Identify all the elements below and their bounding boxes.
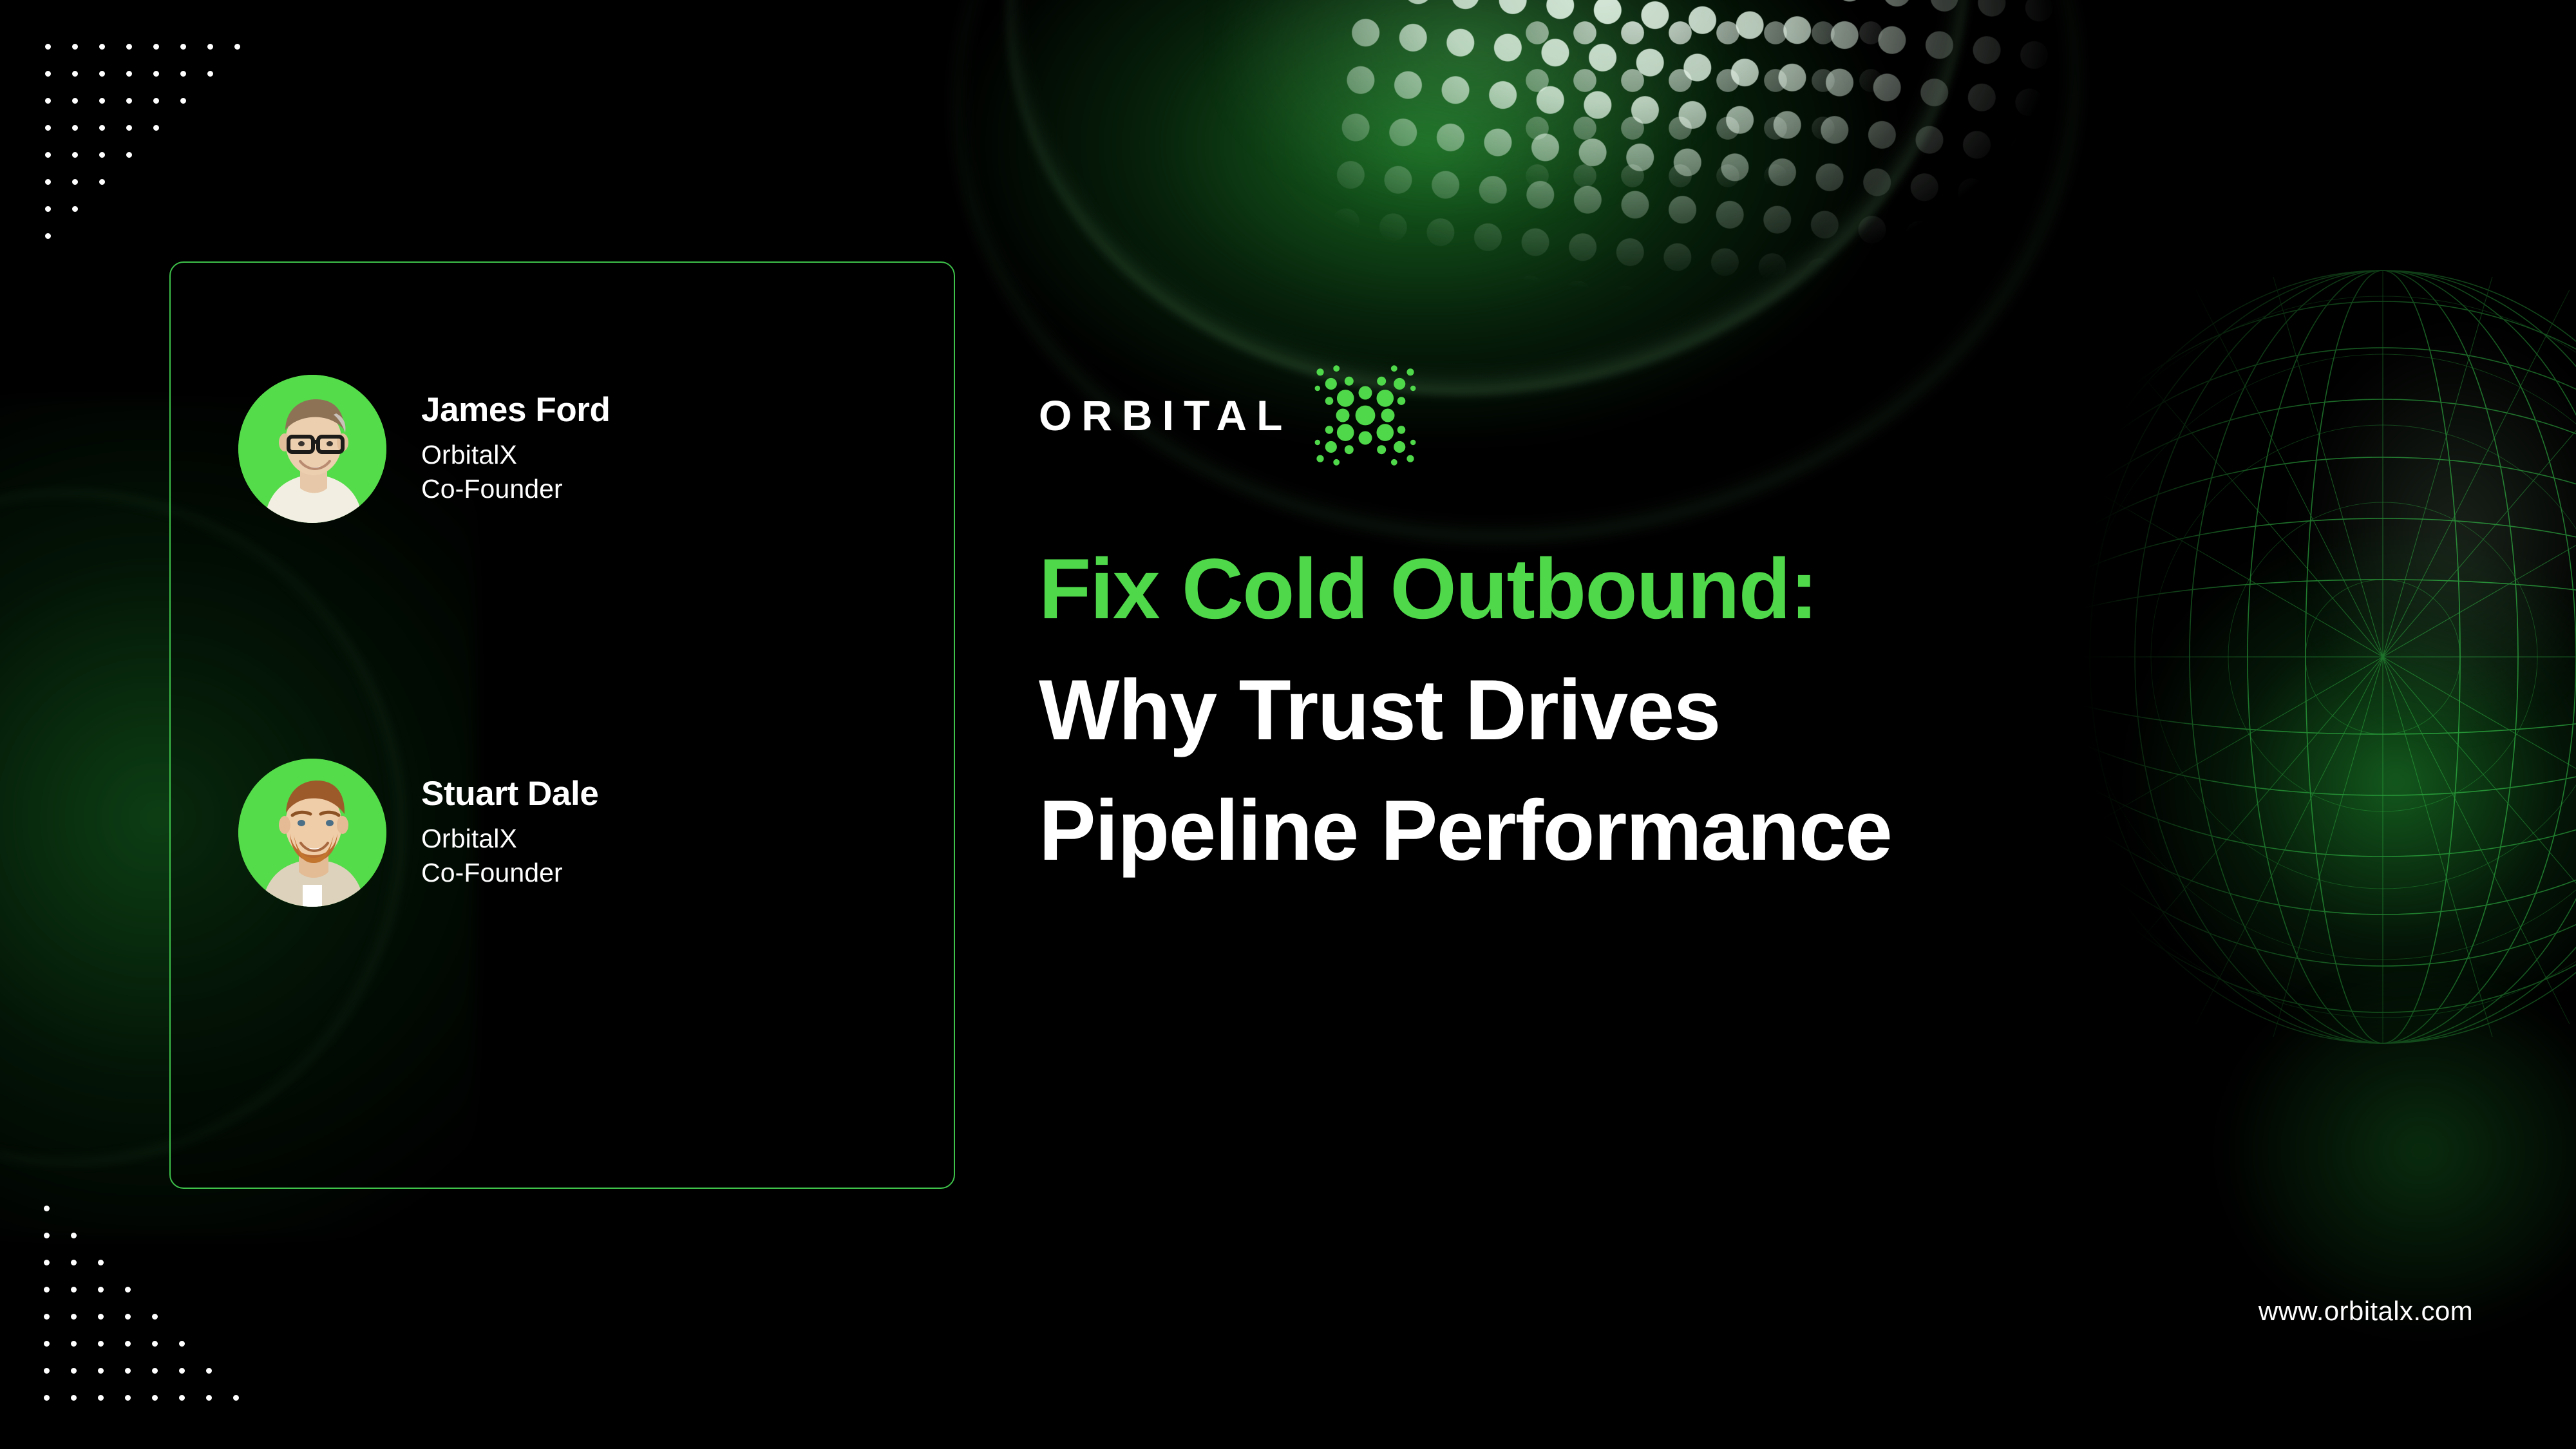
decorative-dot [45,206,51,212]
decorative-dot [45,233,51,239]
decorative-dot [99,71,105,77]
decorative-dot [44,1206,50,1211]
decorative-dot [152,1395,158,1401]
decorative-dot [45,125,51,131]
decorative-dot [45,98,51,104]
decorative-dot [152,1314,158,1320]
decorative-dot [207,44,213,50]
decorative-dot [71,1287,77,1293]
decorative-dot [179,1395,185,1401]
decorative-dot [152,1368,158,1374]
speaker-card: James Ford OrbitalX Co-Founder [169,261,955,1189]
decorative-dot [153,71,159,77]
decorative-dot [206,1368,212,1374]
decorative-dot [45,44,51,50]
speaker-name: James Ford [421,392,611,428]
decorative-dot [71,1314,77,1320]
headline-line-1: Fix Cold Outbound: [1039,529,2488,650]
decorative-dot [45,71,51,77]
decorative-dot-grid-bottom-left [44,1206,263,1425]
decorative-dot [98,1395,104,1401]
slide-canvas: James Ford OrbitalX Co-Founder [0,0,2576,1449]
decorative-dot [72,206,78,212]
decorative-dot [125,1341,131,1347]
decorative-dot [126,44,132,50]
decorative-dot [179,1368,185,1374]
decorative-dot [99,152,105,158]
headline-line-2: Why Trust Drives [1039,650,2488,772]
speaker-role: Co-Founder [421,472,611,506]
headline-line-3: Pipeline Performance [1039,771,2488,892]
decorative-dot [72,125,78,131]
decorative-dot [152,1341,158,1347]
top-right-green-glow [966,0,2061,438]
decorative-dot [44,1395,50,1401]
decorative-dot [71,1368,77,1374]
decorative-dot [71,1395,77,1401]
decorative-dot [72,71,78,77]
speaker-row: James Ford OrbitalX Co-Founder [238,375,611,523]
decorative-dot [44,1368,50,1374]
brand-lockup: ORBITAL [1039,377,2488,453]
decorative-dot [71,1233,77,1238]
decorative-dot [72,179,78,185]
content-column: ORBITAL [1039,377,2488,892]
decorative-dot [44,1314,50,1320]
decorative-dot [126,71,132,77]
decorative-dot [98,1287,104,1293]
decorative-dot [98,1314,104,1320]
decorative-dot [98,1368,104,1374]
decorative-dot [234,44,240,50]
speaker-row: Stuart Dale OrbitalX Co-Founder [238,759,598,907]
decorative-dot [99,44,105,50]
orbitalx-dot-x-icon [1311,361,1419,469]
decorative-dot [126,152,132,158]
decorative-dot [98,1341,104,1347]
decorative-dot [125,1368,131,1374]
speaker-meta: James Ford OrbitalX Co-Founder [421,392,611,506]
decorative-dot [153,98,159,104]
bottom-right-green-glow [2190,966,2576,1449]
decorative-dot [206,1395,212,1401]
decorative-dot [126,98,132,104]
speaker-org: OrbitalX [421,438,611,471]
speaker-role: Co-Founder [421,856,598,889]
decorative-dot [98,1260,104,1265]
speaker-avatar-james-ford [238,375,386,523]
decorative-dot [45,179,51,185]
decorative-dot [45,152,51,158]
decorative-dot [72,98,78,104]
speaker-org: OrbitalX [421,822,598,855]
speaker-name: Stuart Dale [421,776,598,812]
decorative-dot [99,125,105,131]
speaker-meta: Stuart Dale OrbitalX Co-Founder [421,776,598,890]
page-title: Fix Cold Outbound: Why Trust Drives Pipe… [1039,529,2488,892]
decorative-dot [99,179,105,185]
decorative-dot [71,1260,77,1265]
decorative-dot [233,1395,239,1401]
top-right-green-glow-soft [1224,0,1932,283]
decorative-dot [125,1287,131,1293]
decorative-dot [126,125,132,131]
decorative-dot [207,71,213,77]
decorative-dot [125,1395,131,1401]
decorative-dot [44,1287,50,1293]
decorative-dot-grid-top-left [45,44,264,263]
decorative-dot [72,44,78,50]
decorative-dot [72,152,78,158]
decorative-dot [125,1314,131,1320]
halftone-dot-field-secondary-icon [1513,0,2157,361]
brand-wordmark: ORBITAL [1039,394,1292,437]
decorative-dot [44,1260,50,1265]
decorative-dot [153,44,159,50]
decorative-dot [44,1233,50,1238]
decorative-dot [179,1341,185,1347]
decorative-dot [44,1341,50,1347]
speaker-avatar-stuart-dale [238,759,386,907]
decorative-dot [180,98,186,104]
decorative-dot [180,44,186,50]
decorative-dot [99,98,105,104]
decorative-dot [180,71,186,77]
decorative-dot [153,125,159,131]
site-url[interactable]: www.orbitalx.com [2259,1296,2473,1327]
decorative-dot [71,1341,77,1347]
